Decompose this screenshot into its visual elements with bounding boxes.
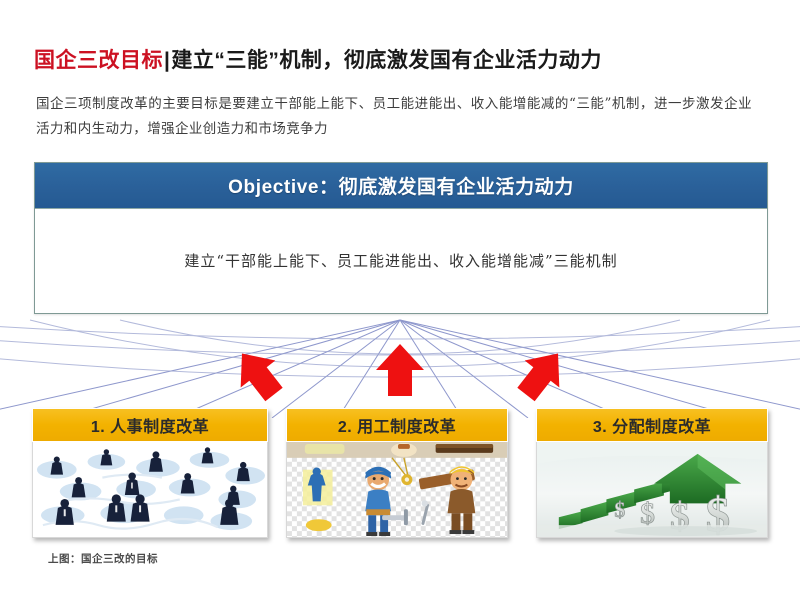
- panel-distribution-reform[interactable]: 3. 分配制度改革: [536, 408, 768, 538]
- arrow-center-icon: [376, 344, 424, 396]
- objective-body: 建立“干部能上能下、员工能进能出、收入能增能减”三能机制: [35, 208, 767, 313]
- business-people-network-image: [32, 442, 268, 538]
- panel-label-3: 3. 分配制度改革: [536, 408, 768, 442]
- arrow-right-icon: [509, 340, 576, 408]
- red-arrows-group: [0, 330, 800, 410]
- svg-text:$: $: [614, 498, 625, 522]
- page-title-rest: 建立“三能”机制，彻底激发国有企业活力动力: [171, 49, 602, 72]
- arrow-left-icon: [225, 340, 292, 408]
- objective-banner: Objective：彻底激发国有企业活力动力: [35, 163, 767, 209]
- panel-label-2-text: 2. 用工制度改革: [338, 413, 456, 437]
- intro-paragraph: 国企三项制度改革的主要目标是要建立干部能上能下、员工能进能出、收入能增能减的“三…: [36, 92, 752, 142]
- panel-label-1-text: 1. 人事制度改革: [91, 413, 209, 437]
- panel-label-2: 2. 用工制度改革: [286, 408, 508, 442]
- page-title: 国企三改目标|建立“三能”机制，彻底激发国有企业活力动力: [34, 44, 602, 74]
- panel-label-3-text: 3. 分配制度改革: [593, 413, 711, 437]
- objective-body-text: 建立“干部能上能下、员工能进能出、收入能增能减”三能机制: [184, 250, 617, 271]
- panel-label-1: 1. 人事制度改革: [32, 408, 268, 442]
- page-title-accent: 国企三改目标: [34, 49, 163, 72]
- figure-caption: 上图：国企三改的目标: [48, 551, 158, 566]
- panel-personnel-reform[interactable]: 1. 人事制度改革: [32, 408, 268, 538]
- objective-card: Objective：彻底激发国有企业活力动力 建立“干部能上能下、员工能进能出、…: [34, 162, 768, 314]
- slide-root: 国企三改目标|建立“三能”机制，彻底激发国有企业活力动力 国企三项制度改革的主要…: [0, 0, 800, 600]
- cartoon-workers-image: [286, 442, 508, 538]
- objective-banner-text: Objective：彻底激发国有企业活力动力: [228, 172, 574, 199]
- green-arrow-dollars-image: $ $ $ $: [536, 442, 768, 538]
- reform-panels: 1. 人事制度改革: [0, 408, 800, 538]
- panel-employment-reform[interactable]: 2. 用工制度改革: [286, 408, 508, 538]
